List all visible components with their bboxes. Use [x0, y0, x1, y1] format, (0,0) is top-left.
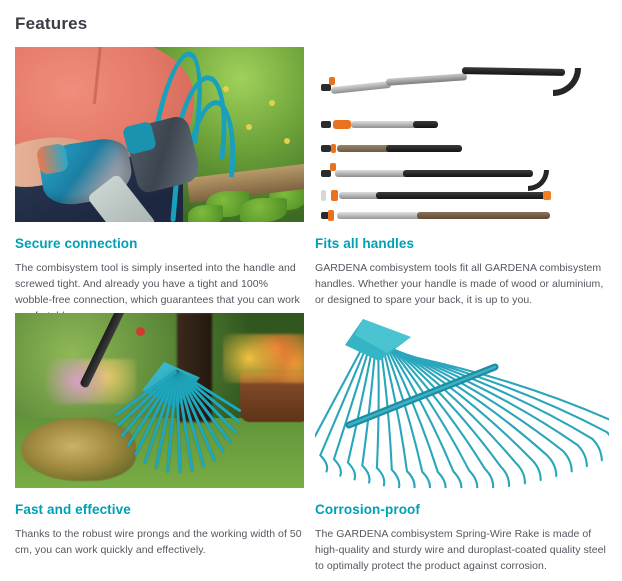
flower-dot	[284, 138, 290, 144]
flowers-right	[223, 334, 304, 383]
feature-card-corrosion-proof: Corrosion-proof The GARDENA combisystem …	[315, 313, 609, 575]
feature-title-fast-and-effective: Fast and effective	[15, 502, 304, 518]
feature-body-corrosion-proof: The GARDENA combisystem Spring-Wire Rake…	[315, 527, 609, 575]
page-title: Features	[15, 14, 87, 34]
grass-clippings-pile	[21, 418, 137, 481]
feature-card-fits-all-handles: Fits all handles GARDENA combisystem too…	[315, 47, 609, 309]
feature-image-secure-connection	[15, 47, 304, 222]
handle-end-cap	[321, 170, 331, 177]
flower-dot	[269, 100, 275, 106]
handle-item	[321, 145, 462, 152]
handle-item	[321, 212, 550, 219]
handle-end-cap	[321, 190, 326, 201]
feature-title-fits-all-handles: Fits all handles	[315, 236, 609, 252]
handle-bent-tip	[528, 170, 549, 191]
handle-orange-grip	[333, 120, 351, 129]
handle-item	[321, 84, 591, 91]
handle-shaft-black	[403, 170, 532, 177]
feature-title-corrosion-proof: Corrosion-proof	[315, 502, 609, 518]
foliage-shape	[240, 198, 286, 223]
handle-end-cap	[321, 121, 331, 128]
glove-cuff	[36, 143, 69, 176]
handle-shaft-black	[461, 67, 564, 76]
foliage-shape	[188, 205, 223, 223]
handle-shaft-black	[386, 145, 462, 152]
handle-shaft-black	[413, 121, 439, 128]
feature-image-fast-and-effective	[15, 313, 304, 488]
feature-body-fits-all-handles: GARDENA combisystem tools fit all GARDEN…	[315, 261, 609, 309]
handle-orange-clip	[330, 163, 336, 171]
handle-item	[321, 121, 439, 128]
handle-orange-clip	[329, 77, 335, 85]
handle-shaft-silver	[386, 73, 467, 86]
handle-shaft-black	[376, 192, 546, 199]
handle-orange-clip	[331, 144, 336, 153]
handles-lineup	[315, 47, 609, 222]
handle-orange-clip	[331, 190, 338, 201]
feature-body-fast-and-effective: Thanks to the robust wire prongs and the…	[15, 527, 304, 559]
rake-wire-svg	[315, 313, 609, 488]
handle-orange-tip	[543, 191, 551, 200]
feature-image-corrosion-proof	[315, 313, 609, 488]
feature-card-secure-connection: Secure connection The combisystem tool i…	[15, 47, 304, 325]
handle-item	[321, 170, 556, 177]
feature-title-secure-connection: Secure connection	[15, 236, 304, 252]
handle-end-cap	[321, 145, 331, 152]
handle-shaft-wood	[417, 212, 550, 219]
spring-wire-rake-illustration	[315, 313, 609, 488]
handle-shaft-silver	[337, 212, 429, 219]
flower-dot	[223, 86, 229, 92]
feature-image-fits-all-handles	[315, 47, 609, 222]
handle-item	[321, 192, 550, 199]
feature-card-fast-and-effective: Fast and effective Thanks to the robust …	[15, 313, 304, 559]
handle-shaft-silver	[331, 81, 391, 94]
handle-orange-clip	[328, 210, 334, 221]
handle-bent-tip	[553, 68, 581, 96]
rake-wire-tine	[320, 340, 369, 472]
handle-end-cap	[321, 84, 331, 91]
